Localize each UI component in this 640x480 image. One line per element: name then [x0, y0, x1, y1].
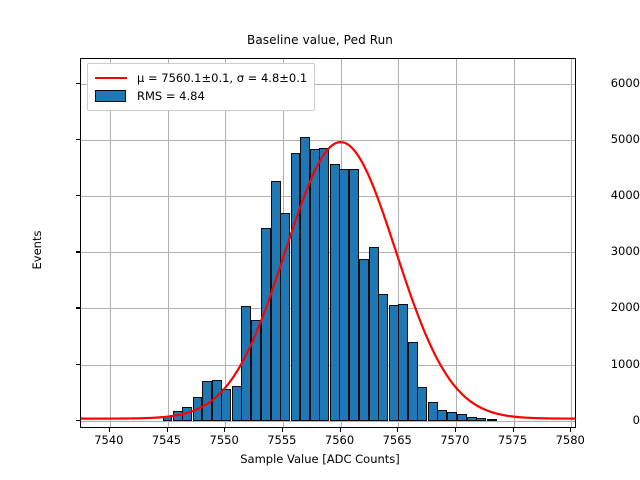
legend-patch-swatch-icon — [94, 89, 128, 103]
legend-label-fit: μ = 7560.1±0.1, σ = 4.8±0.1 — [137, 71, 307, 85]
y-tick-mark — [76, 139, 80, 140]
y-tick-mark — [76, 420, 80, 421]
figure-canvas: Baseline value, Ped Run Events Sample Va… — [0, 0, 640, 480]
plot-area — [80, 58, 576, 428]
y-tick-label: 1000 — [576, 357, 640, 371]
x-tick-mark — [109, 428, 110, 432]
y-tick-label: 0 — [576, 413, 640, 427]
x-tick-mark — [570, 428, 571, 432]
x-tick-mark — [224, 428, 225, 432]
y-tick-mark — [76, 307, 80, 308]
chart-title: Baseline value, Ped Run — [0, 33, 640, 47]
y-tick-mark — [76, 195, 80, 196]
x-axis-label: Sample Value [ADC Counts] — [0, 452, 640, 466]
y-tick-label: 2000 — [576, 300, 640, 314]
x-tick-mark — [282, 428, 283, 432]
y-tick-label: 5000 — [576, 132, 640, 146]
x-tick-label: 7580 — [535, 433, 605, 447]
gaussian-fit-curve — [81, 59, 575, 427]
y-tick-label: 4000 — [576, 188, 640, 202]
y-tick-mark — [76, 251, 80, 252]
x-tick-mark — [513, 428, 514, 432]
y-axis-label: Events — [30, 190, 44, 310]
legend-label-histogram: RMS = 4.84 — [137, 89, 205, 103]
y-tick-label: 6000 — [576, 76, 640, 90]
x-tick-mark — [340, 428, 341, 432]
y-tick-label: 3000 — [576, 244, 640, 258]
legend: μ = 7560.1±0.1, σ = 4.8±0.1 RMS = 4.84 — [87, 63, 315, 111]
x-tick-mark — [455, 428, 456, 432]
legend-item-histogram: RMS = 4.84 — [94, 87, 307, 105]
y-tick-mark — [76, 83, 80, 84]
x-tick-mark — [397, 428, 398, 432]
legend-item-fit: μ = 7560.1±0.1, σ = 4.8±0.1 — [94, 69, 307, 87]
legend-line-swatch-icon — [94, 71, 128, 85]
x-tick-mark — [167, 428, 168, 432]
y-tick-mark — [76, 364, 80, 365]
plot-inner — [81, 59, 575, 427]
